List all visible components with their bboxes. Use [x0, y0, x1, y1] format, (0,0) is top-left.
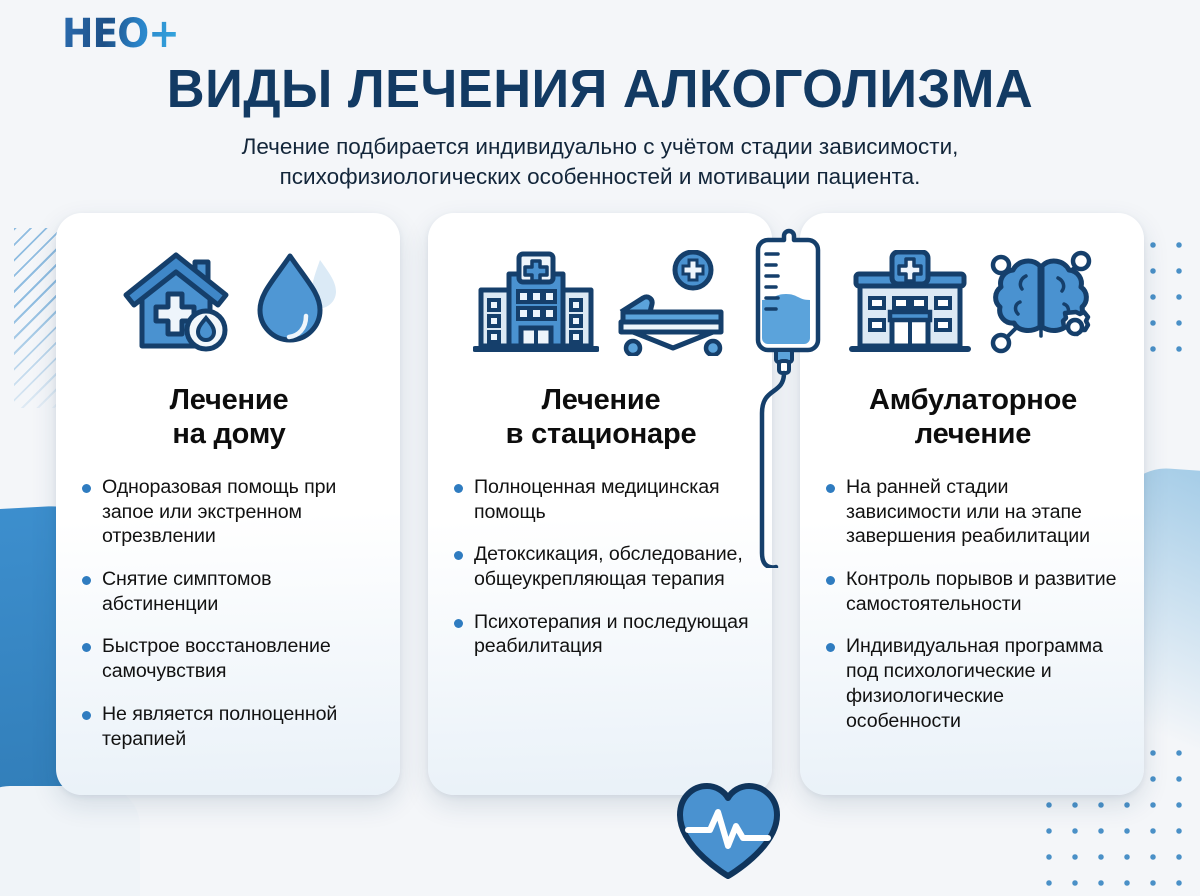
- page-title: ВИДЫ ЛЕЧЕНИЯ АЛКОГОЛИЗМА: [18, 60, 1182, 118]
- light-blob-bottom-left: [0, 786, 140, 896]
- hospital-bed-icon: [613, 250, 729, 356]
- card-icons: [80, 245, 378, 361]
- house-medical-cross-icon: [120, 250, 236, 356]
- card-title-line-2: в стационаре: [452, 417, 750, 451]
- treatment-cards: Лечение на дому Одноразовая помощь при з…: [0, 193, 1200, 796]
- list-item: Психотерапия и последующая реабилитация: [452, 610, 750, 659]
- hospital-building-icon: [473, 250, 599, 356]
- card-icons: [452, 245, 750, 361]
- header: НЕО+ ВИДЫ ЛЕЧЕНИЯ АЛКОГОЛИЗМА Лечение по…: [0, 0, 1200, 193]
- list-item: Индивидуальная программа под психологиче…: [824, 634, 1122, 733]
- card-title-line-2: на дому: [80, 417, 378, 451]
- heart-pulse-icon: [672, 778, 784, 887]
- card-icons: [824, 245, 1122, 361]
- card-bullet-list: Одноразовая помощь при запое или экстрен…: [80, 475, 378, 769]
- card-title: Лечение на дому: [80, 383, 378, 451]
- card-bullet-list: На ранней стадии зависимости или на этап…: [824, 475, 1122, 751]
- list-item: Не является полноценной терапией: [80, 702, 378, 751]
- brand-logo[interactable]: НЕО+: [62, 14, 179, 54]
- card-inpatient-treatment[interactable]: Лечение в стационаре Полноценная медицин…: [428, 213, 772, 796]
- subtitle-line-2: психофизиологических особенностей и моти…: [95, 162, 1105, 192]
- card-outpatient-treatment[interactable]: Амбулаторное лечение На ранней стадии за…: [800, 213, 1144, 796]
- list-item: Детоксикация, обследование, общеукрепляю…: [452, 542, 750, 591]
- subtitle-line-1: Лечение подбирается индивидуально с учёт…: [95, 132, 1105, 162]
- card-title: Амбулаторное лечение: [824, 383, 1122, 451]
- page-subtitle: Лечение подбирается индивидуально с учёт…: [95, 132, 1105, 192]
- card-title-line-1: Амбулаторное: [824, 383, 1122, 417]
- water-droplet-icon: [250, 250, 338, 356]
- card-title-line-1: Лечение: [452, 383, 750, 417]
- list-item: Одноразовая помощь при запое или экстрен…: [80, 475, 378, 549]
- list-item: Снятие симптомов абстиненции: [80, 567, 378, 616]
- list-item: Контроль порывов и развитие самостоятель…: [824, 567, 1122, 616]
- list-item: Быстрое восстановление самочувствия: [80, 634, 378, 683]
- card-title-line-2: лечение: [824, 417, 1122, 451]
- brain-gear-icon: [986, 250, 1098, 356]
- clinic-building-icon: [848, 250, 972, 356]
- list-item: На ранней стадии зависимости или на этап…: [824, 475, 1122, 549]
- card-bullet-list: Полноценная медицинская помощь Детоксика…: [452, 475, 750, 677]
- list-item: Полноценная медицинская помощь: [452, 475, 750, 524]
- card-home-treatment[interactable]: Лечение на дому Одноразовая помощь при з…: [56, 213, 400, 796]
- card-title: Лечение в стационаре: [452, 383, 750, 451]
- card-title-line-1: Лечение: [80, 383, 378, 417]
